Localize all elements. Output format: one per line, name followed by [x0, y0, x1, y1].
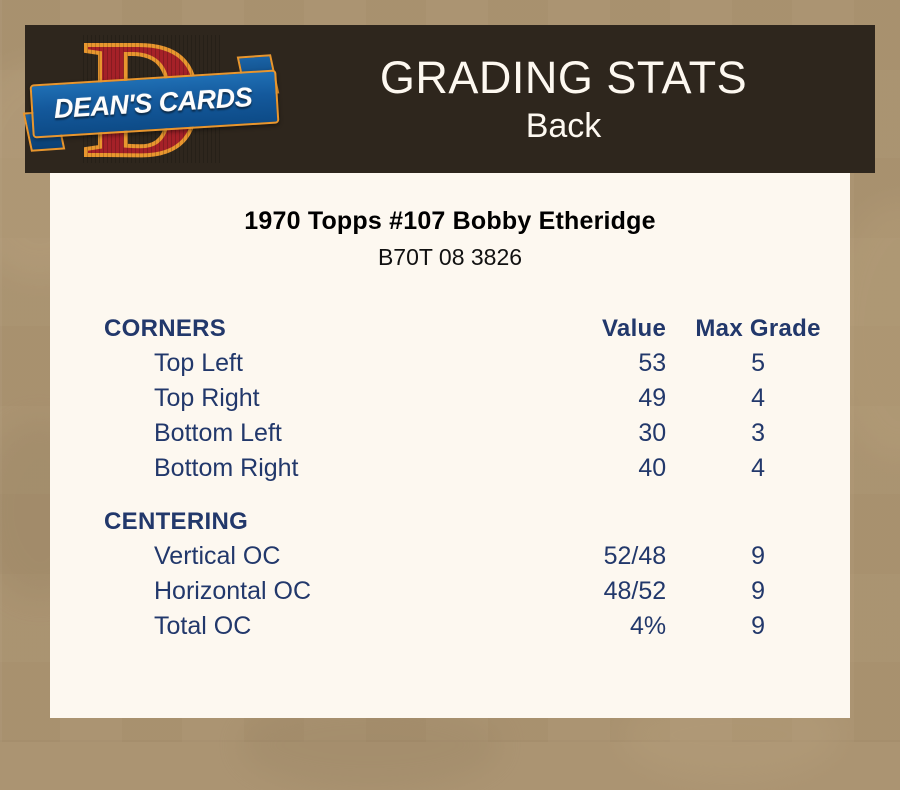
- card-id: B70T 08 3826: [50, 244, 850, 271]
- row-max-grade: 5: [666, 346, 850, 381]
- row-label: Bottom Right: [50, 451, 508, 486]
- row-label: Top Left: [50, 346, 508, 381]
- section-title: CENTERING: [50, 504, 508, 539]
- card-title: 1970 Topps #107 Bobby Etheridge: [50, 207, 850, 236]
- grading-stats-body: CORNERSValueMax GradeTop Left535Top Righ…: [50, 311, 850, 644]
- row-max-grade: 9: [666, 574, 850, 609]
- table-row: Total OC4%9: [50, 609, 850, 644]
- row-value: 53: [508, 346, 666, 381]
- row-value: 4%: [508, 609, 666, 644]
- row-max-grade: 9: [666, 539, 850, 574]
- row-max-grade: 9: [666, 609, 850, 644]
- row-value: 49: [508, 381, 666, 416]
- column-header-value: [508, 504, 666, 539]
- header-bar: D DEAN'S CARDS GRADING STATS Back: [25, 25, 875, 173]
- table-spacer-row: [50, 486, 850, 504]
- row-value: 48/52: [508, 574, 666, 609]
- table-spacer-cell: [50, 486, 850, 504]
- table-row: Top Right494: [50, 381, 850, 416]
- row-label: Bottom Left: [50, 416, 508, 451]
- row-label: Total OC: [50, 609, 508, 644]
- row-label: Top Right: [50, 381, 508, 416]
- content-panel: 1970 Topps #107 Bobby Etheridge B70T 08 …: [50, 173, 850, 718]
- row-max-grade: 4: [666, 451, 850, 486]
- table-row: Top Left535: [50, 346, 850, 381]
- table-row: Vertical OC52/489: [50, 539, 850, 574]
- row-value: 52/48: [508, 539, 666, 574]
- section-title: CORNERS: [50, 311, 508, 346]
- row-value: 30: [508, 416, 666, 451]
- row-max-grade: 4: [666, 381, 850, 416]
- row-value: 40: [508, 451, 666, 486]
- column-header-max-grade: Max Grade: [666, 311, 850, 346]
- column-header-value: Value: [508, 311, 666, 346]
- table-row: Bottom Left303: [50, 416, 850, 451]
- section-header-row: CENTERING: [50, 504, 850, 539]
- row-max-grade: 3: [666, 416, 850, 451]
- row-label: Horizontal OC: [50, 574, 508, 609]
- page-title: GRADING STATS: [280, 51, 847, 105]
- row-label: Vertical OC: [50, 539, 508, 574]
- page-subtitle: Back: [280, 105, 847, 147]
- table-row: Bottom Right404: [50, 451, 850, 486]
- column-header-max-grade: [666, 504, 850, 539]
- section-header-row: CORNERSValueMax Grade: [50, 311, 850, 346]
- table-row: Horizontal OC48/529: [50, 574, 850, 609]
- grading-stats-table: CORNERSValueMax GradeTop Left535Top Righ…: [50, 311, 850, 644]
- header-titles: GRADING STATS Back: [280, 51, 875, 147]
- deans-cards-logo[interactable]: D DEAN'S CARDS: [25, 25, 280, 173]
